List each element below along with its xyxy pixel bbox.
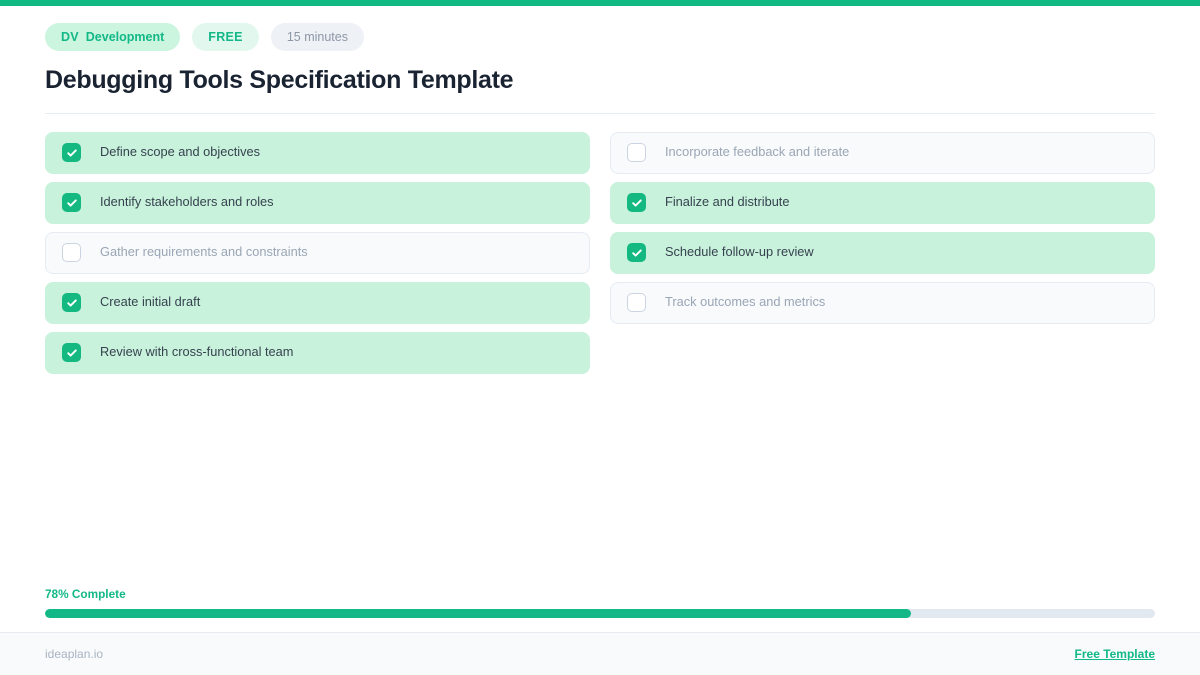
checkbox-checked-icon[interactable] [627,243,646,262]
checklist-item[interactable]: Incorporate feedback and iterate [610,132,1155,174]
category-label: Development [86,30,165,44]
category-badge: DV Development [45,23,180,51]
progress-track[interactable] [45,609,1155,618]
checkbox-checked-icon[interactable] [62,193,81,212]
page-content: DV Development FREE 15 minutes Debugging… [0,6,1200,632]
progress-block: 78% Complete [45,587,1155,618]
checklist: Define scope and objectivesIdentify stak… [45,132,1155,374]
checklist-item-label: Define scope and objectives [100,146,260,159]
title-divider [45,113,1155,114]
checklist-item[interactable]: Create initial draft [45,282,590,324]
checkbox-unchecked-icon[interactable] [627,143,646,162]
checklist-item[interactable]: Define scope and objectives [45,132,590,174]
checklist-item[interactable]: Identify stakeholders and roles [45,182,590,224]
page-header: DV Development FREE 15 minutes Debugging… [45,6,1155,114]
checklist-item[interactable]: Finalize and distribute [610,182,1155,224]
checkbox-checked-icon[interactable] [62,293,81,312]
free-template-link[interactable]: Free Template [1075,647,1155,661]
checkbox-unchecked-icon[interactable] [627,293,646,312]
checklist-item[interactable]: Review with cross-functional team [45,332,590,374]
page-footer: ideaplan.io Free Template [0,632,1200,675]
price-badge: FREE [192,23,259,51]
checklist-item[interactable]: Track outcomes and metrics [610,282,1155,324]
checklist-item[interactable]: Gather requirements and constraints [45,232,590,274]
checklist-item[interactable]: Schedule follow-up review [610,232,1155,274]
checklist-item-label: Incorporate feedback and iterate [665,146,849,159]
checklist-column-right: Incorporate feedback and iterateFinalize… [610,132,1155,324]
badge-row: DV Development FREE 15 minutes [45,22,1155,52]
checklist-item-label: Review with cross-functional team [100,346,293,359]
checkbox-checked-icon[interactable] [62,343,81,362]
checklist-column-left: Define scope and objectivesIdentify stak… [45,132,590,374]
checkbox-checked-icon[interactable] [62,143,81,162]
progress-label: 78% Complete [45,587,1155,601]
checklist-item-label: Gather requirements and constraints [100,246,308,259]
category-initials: DV [61,30,79,44]
checkbox-checked-icon[interactable] [627,193,646,212]
checklist-item-label: Track outcomes and metrics [665,296,825,309]
progress-fill [45,609,911,618]
page-title: Debugging Tools Specification Template [45,66,1155,95]
checklist-item-label: Finalize and distribute [665,196,789,209]
footer-brand: ideaplan.io [45,647,103,661]
checklist-item-label: Identify stakeholders and roles [100,196,274,209]
checklist-item-label: Schedule follow-up review [665,246,814,259]
checkbox-unchecked-icon[interactable] [62,243,81,262]
checklist-item-label: Create initial draft [100,296,200,309]
duration-badge: 15 minutes [271,23,364,51]
